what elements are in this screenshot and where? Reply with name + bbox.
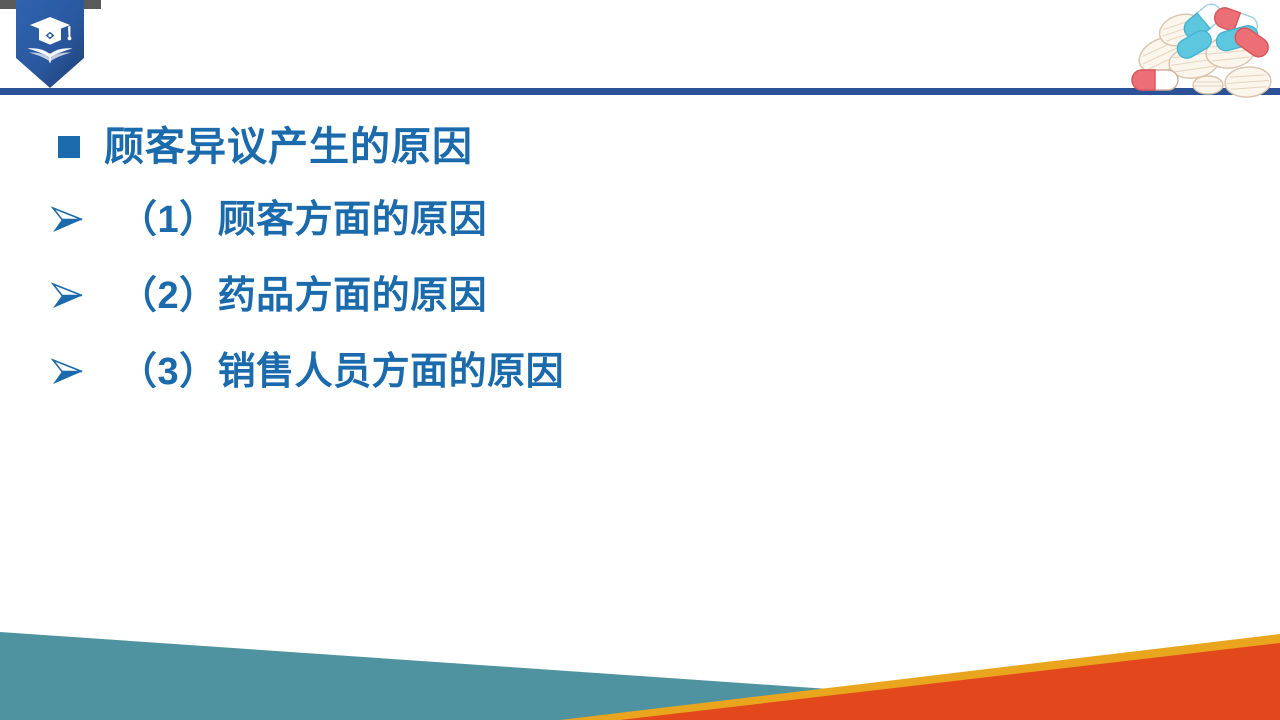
list-item[interactable]: （3）销售人员方面的原因	[0, 334, 1280, 410]
list-item[interactable]: （2）药品方面的原因	[0, 258, 1280, 334]
slide-body: 顾客异议产生的原因 （1）顾客方面的原因 （2）药品方面的原因	[0, 112, 1280, 410]
page-title: 顾客异议产生的原因	[104, 127, 473, 167]
list-item-label: （3）销售人员方面的原因	[119, 353, 564, 391]
pills-and-capsules-illustration	[1124, 0, 1274, 100]
header-divider-rule	[0, 88, 1280, 95]
graduation-cap-book-logo	[16, 0, 84, 88]
bottom-decorative-wedges	[0, 600, 1280, 720]
arrow-bullet-icon	[51, 358, 97, 386]
list-item[interactable]: （1）顾客方面的原因	[0, 182, 1280, 258]
arrow-bullet-icon	[51, 206, 97, 234]
slide-canvas: 顾客异议产生的原因 （1）顾客方面的原因 （2）药品方面的原因	[0, 0, 1280, 720]
slide-title-row: 顾客异议产生的原因	[0, 112, 1280, 182]
square-bullet-icon	[58, 136, 104, 158]
list-item-label: （1）顾客方面的原因	[119, 201, 487, 239]
arrow-bullet-icon	[51, 282, 97, 310]
list-item-label: （2）药品方面的原因	[119, 277, 487, 315]
